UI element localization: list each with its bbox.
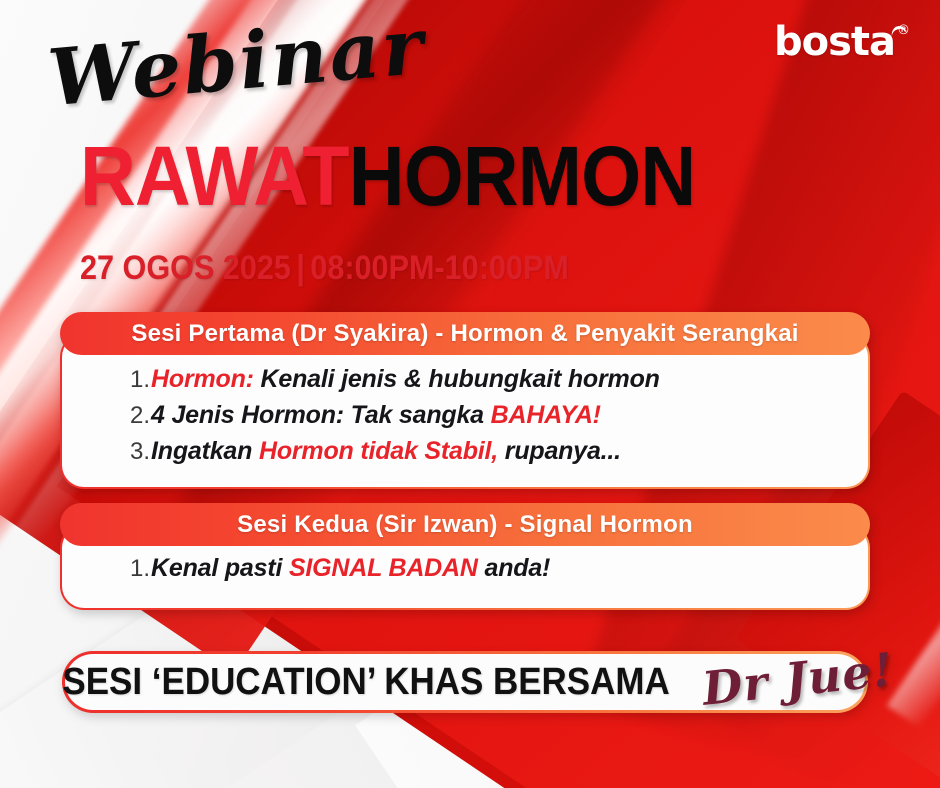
list-item: 3. Ingatkan Hormon tidak Stabil, rupanya… <box>88 437 842 466</box>
datetime-separator: | <box>291 249 310 287</box>
event-datetime: 27 OGOS 2025|08:00PM-10:00PM <box>80 249 569 288</box>
list-item-text: Hormon: Kenali jenis & hubungkait hormon <box>151 365 660 394</box>
list-item-number: 2. <box>130 402 150 430</box>
session-card-header: Sesi Pertama (Dr Syakira) - Hormon & Pen… <box>60 312 870 355</box>
list-item-highlight: Hormon: <box>151 365 254 393</box>
list-item-pre: Ingatkan <box>151 437 259 465</box>
bosta-logo: bosta ® <box>774 22 910 62</box>
list-item: 1. Kenal pasti SIGNAL BADAN anda! <box>88 554 842 583</box>
logo-wordmark: bosta <box>774 22 895 62</box>
list-item-highlight: Hormon tidak Stabil, <box>259 437 498 465</box>
event-time: 08:00PM-10:00PM <box>310 249 569 287</box>
session-card-body: 1. Hormon: Kenali jenis & hubungkait hor… <box>60 333 870 489</box>
session-card: Sesi Kedua (Sir Izwan) - Signal Hormon 1… <box>60 503 870 610</box>
education-banner-inner: SESI ‘EDUCATION’ KHAS BERSAMA Dr Jue! <box>62 651 868 713</box>
title-part-hormon: HORMON <box>349 129 696 223</box>
list-item: 2. 4 Jenis Hormon: Tak sangka BAHAYA! <box>88 401 842 430</box>
speaker-signature: Dr Jue! <box>700 642 896 716</box>
list-item-number: 1. <box>130 555 150 583</box>
session-card-header: Sesi Kedua (Sir Izwan) - Signal Hormon <box>60 503 870 546</box>
session-card-title: Sesi Pertama (Dr Syakira) - Hormon & Pen… <box>131 320 798 348</box>
list-item-text: Kenal pasti SIGNAL BADAN anda! <box>151 554 550 583</box>
list-item-highlight: SIGNAL BADAN <box>289 554 478 582</box>
list-item-text: Ingatkan Hormon tidak Stabil, rupanya... <box>151 437 621 466</box>
title-part-rawat: RAWAT <box>80 129 349 223</box>
list-item-pre: 4 Jenis Hormon: Tak sangka <box>151 401 491 429</box>
event-date: 27 OGOS 2025 <box>80 249 291 287</box>
education-banner: SESI ‘EDUCATION’ KHAS BERSAMA Dr Jue! <box>62 651 868 713</box>
list-item-text: 4 Jenis Hormon: Tak sangka BAHAYA! <box>151 401 601 430</box>
list-item-post: anda! <box>478 554 550 582</box>
list-item-number: 3. <box>130 438 150 466</box>
session-card-title: Sesi Kedua (Sir Izwan) - Signal Hormon <box>237 511 693 539</box>
list-item-post: Kenali jenis & hubungkait hormon <box>254 365 660 393</box>
list-item: 1. Hormon: Kenali jenis & hubungkait hor… <box>88 365 842 394</box>
webinar-poster: bosta ® Webinar RAWATHORMON 27 OGOS 2025… <box>0 0 940 788</box>
list-item-pre: Kenal pasti <box>151 554 289 582</box>
education-banner-text: SESI ‘EDUCATION’ KHAS BERSAMA <box>62 661 669 704</box>
session-card: Sesi Pertama (Dr Syakira) - Hormon & Pen… <box>60 312 870 489</box>
list-item-highlight: BAHAYA! <box>491 401 601 429</box>
list-item-post: rupanya... <box>498 437 621 465</box>
list-item-number: 1. <box>130 366 150 394</box>
page-title: RAWATHORMON <box>80 138 695 215</box>
session-cards: Sesi Pertama (Dr Syakira) - Hormon & Pen… <box>60 312 870 624</box>
